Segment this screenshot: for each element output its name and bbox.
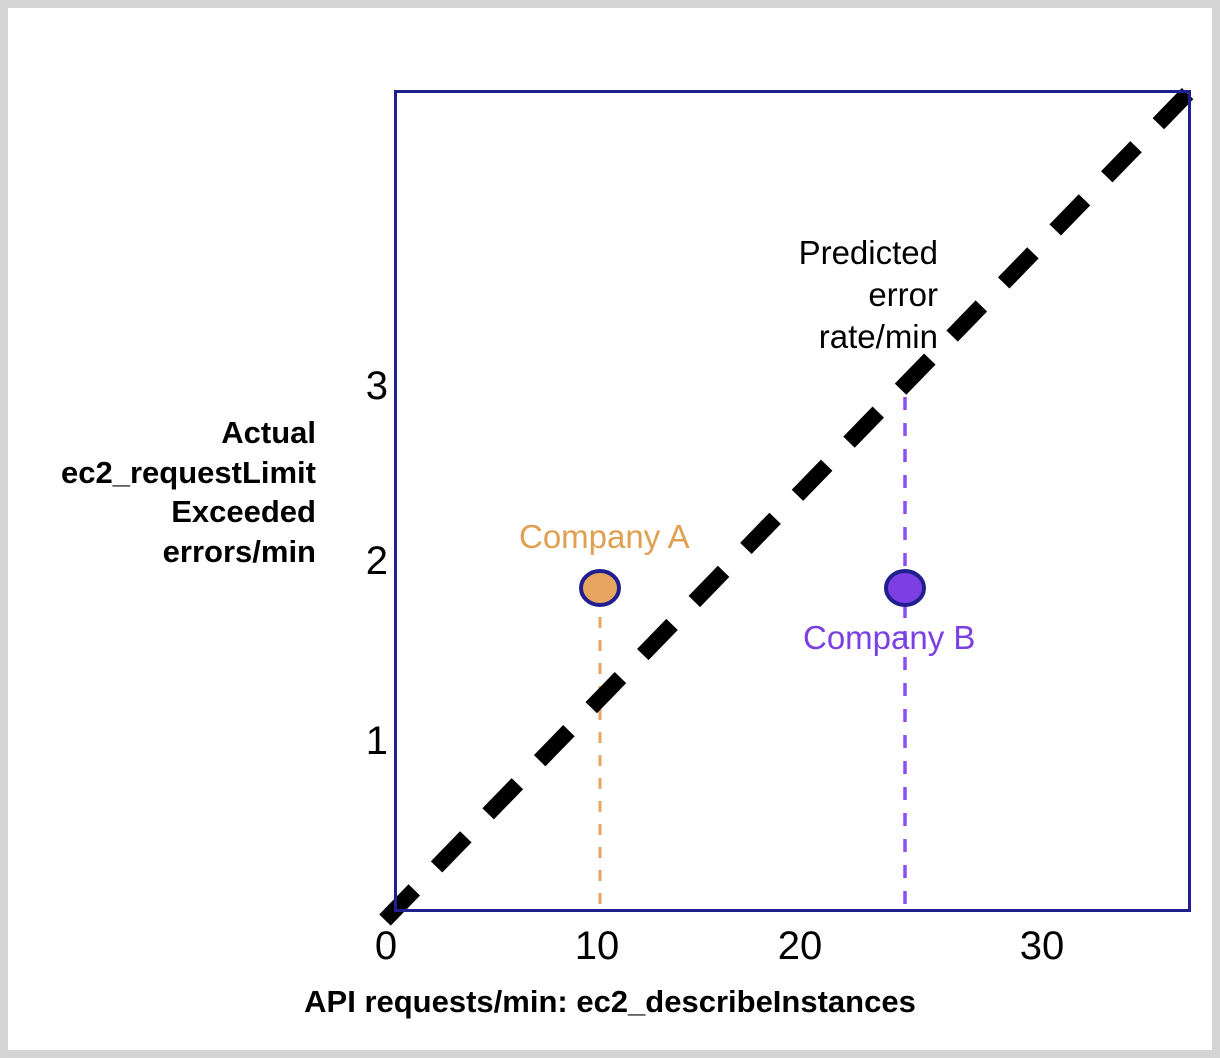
- series-label-company-b: Company B: [803, 621, 975, 654]
- y-axis-title: Actual ec2_requestLimit Exceeded errors/…: [8, 413, 316, 572]
- chart-canvas: 3 2 1 0 10 20 30 Actual ec2_requestLimit…: [8, 8, 1212, 1050]
- predicted-error-rate-annotation: Predicted error rate/min: [748, 232, 938, 358]
- y-tick-label-3: 3: [366, 366, 388, 406]
- y-axis-title-line-1: Actual: [8, 413, 316, 453]
- y-tick-label-1: 1: [366, 721, 388, 761]
- y-tick-label-2: 2: [366, 541, 388, 581]
- y-axis-title-line-4: errors/min: [8, 532, 316, 572]
- series-label-company-a: Company A: [519, 520, 690, 553]
- x-axis-title: API requests/min: ec2_describeInstances: [8, 984, 1212, 1020]
- y-axis-title-line-2: ec2_requestLimit: [8, 453, 316, 493]
- x-tick-label-30: 30: [1020, 926, 1065, 966]
- x-tick-label-10: 10: [575, 926, 620, 966]
- predicted-annotation-line-3: rate/min: [748, 316, 938, 358]
- x-tick-label-20: 20: [778, 926, 823, 966]
- y-axis-title-line-3: Exceeded: [8, 492, 316, 532]
- predicted-annotation-line-1: Predicted: [748, 232, 938, 274]
- predicted-annotation-line-2: error: [748, 274, 938, 316]
- x-tick-label-0: 0: [375, 926, 397, 966]
- plot-area-border: [394, 90, 1191, 912]
